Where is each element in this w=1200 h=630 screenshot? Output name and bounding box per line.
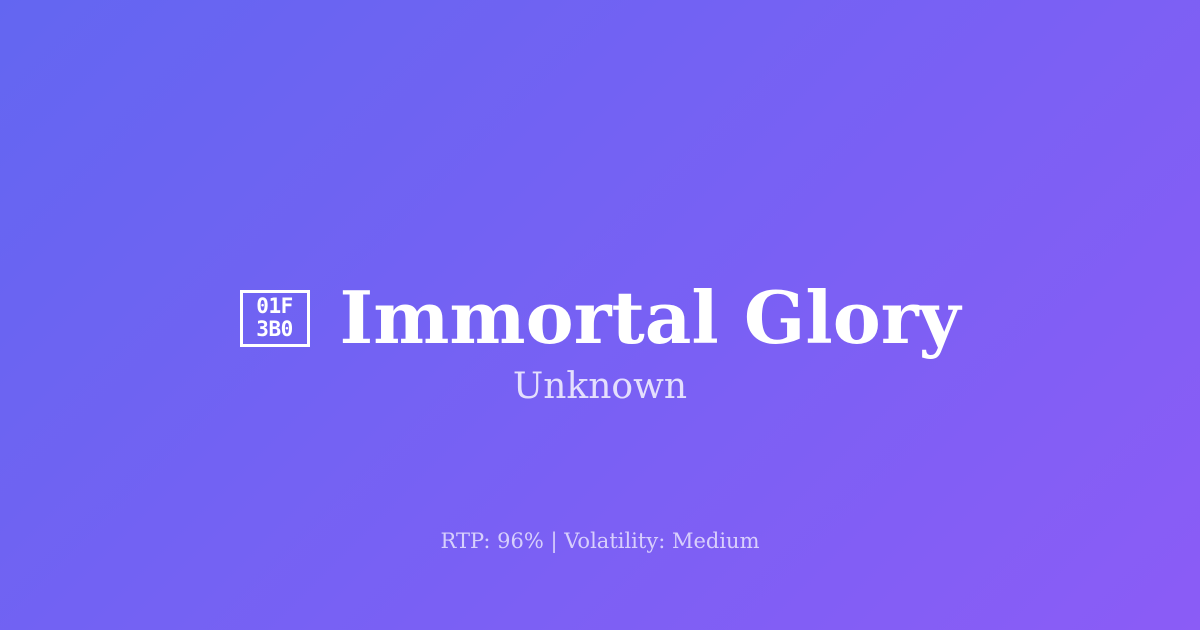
codepoint-top: 01F: [256, 295, 292, 318]
game-stats: RTP: 96% | Volatility: Medium: [0, 528, 1200, 555]
codepoint-bottom: 3B0: [256, 318, 292, 341]
game-preview-card: 01F 3B0 Immortal Glory Unknown RTP: 96% …: [0, 0, 1200, 630]
game-title: Immortal Glory: [340, 280, 961, 356]
slot-machine-icon: 01F 3B0: [240, 290, 310, 347]
game-provider: Unknown: [0, 365, 1200, 408]
